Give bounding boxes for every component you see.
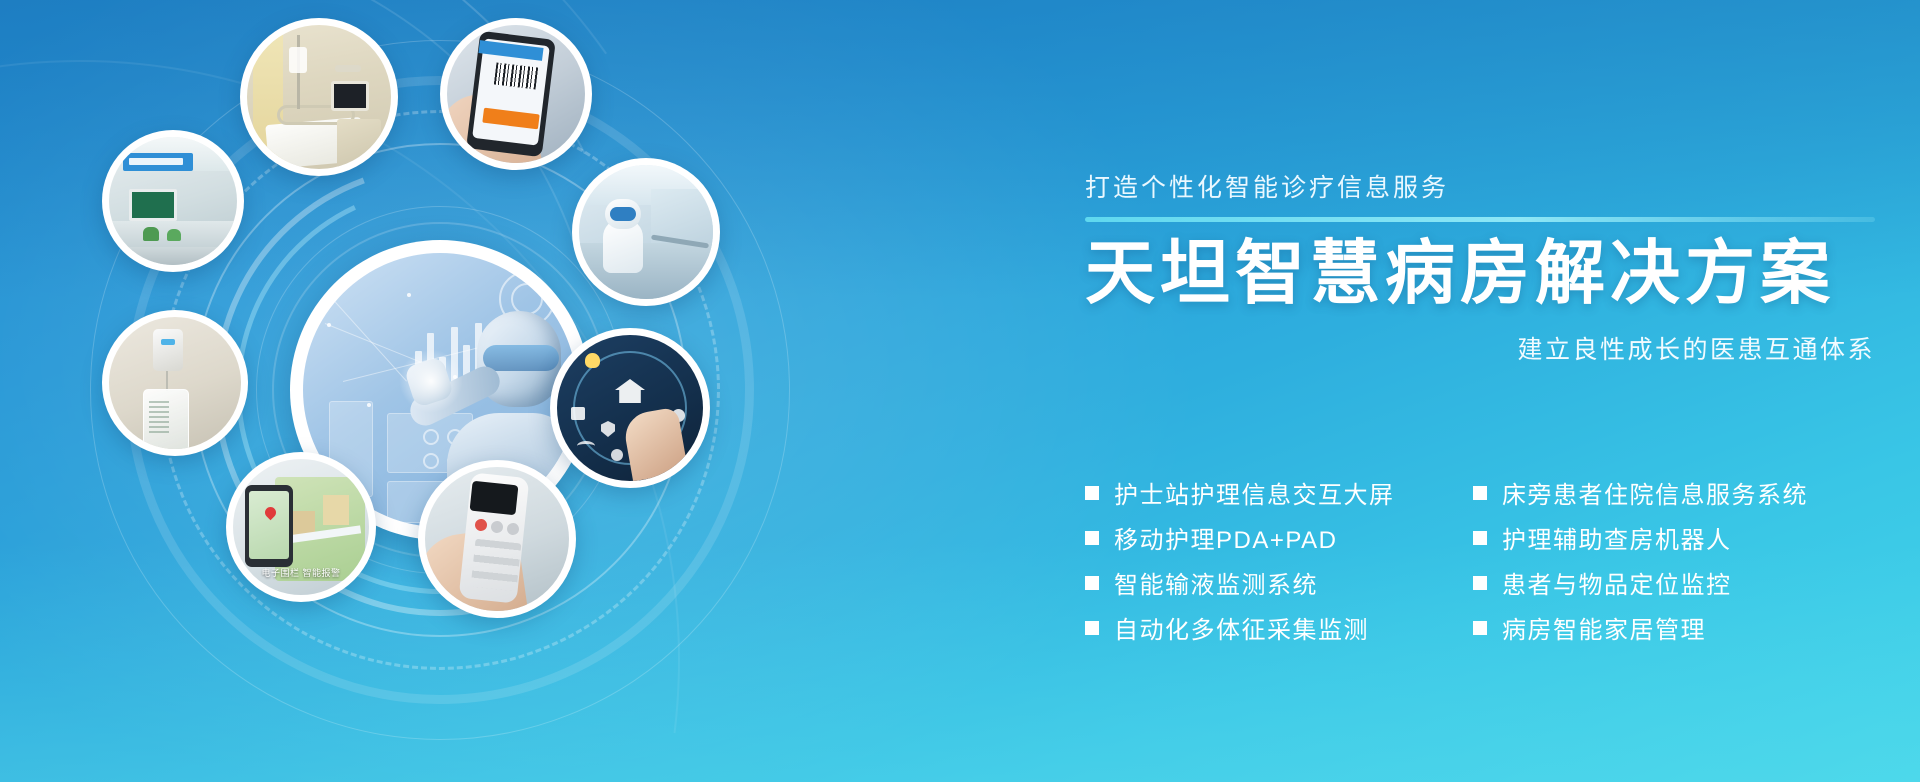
banner-root: 电子围栏 智能报警 打造个性化智能诊疗信息服务 天坦智慧病房解决方案 建立良性成… xyxy=(0,0,1920,782)
feature-label: 患者与物品定位监控 xyxy=(1502,565,1732,600)
page-title: 天坦智慧病房解决方案 xyxy=(1085,236,1875,312)
iv-bag-label xyxy=(149,401,169,435)
phone-screen xyxy=(249,491,289,559)
feature-label: 自动化多体征采集监测 xyxy=(1114,610,1369,645)
feature-item: 智能输液监测系统 xyxy=(1085,560,1473,605)
feature-label: 智能输液监测系统 xyxy=(1114,565,1318,600)
feature-list: 护士站护理信息交互大屏 床旁患者住院信息服务系统 移动护理PDA+PAD 护理辅… xyxy=(1085,470,1885,650)
bullet-square-icon xyxy=(1473,486,1487,500)
tagline-text: 建立良性成长的医患互通体系 xyxy=(1085,330,1875,366)
robot-visor xyxy=(483,345,559,371)
feature-item: 自动化多体征采集监测 xyxy=(1085,605,1473,650)
handheld-remote-photo xyxy=(418,460,576,618)
nurse-station-photo xyxy=(102,130,244,272)
data-link-line xyxy=(333,299,407,381)
infusion-bag-photo xyxy=(102,310,248,456)
remote-keypad xyxy=(471,539,522,592)
bullet-square-icon xyxy=(1473,621,1487,635)
infusion-monitor-device xyxy=(153,329,183,371)
bedside-monitor xyxy=(331,81,369,111)
bullet-square-icon xyxy=(1085,621,1099,635)
device-indicator xyxy=(161,339,175,345)
feature-item: 病房智能家居管理 xyxy=(1473,605,1885,650)
lightbulb-icon xyxy=(585,353,600,368)
feature-label: 床旁患者住院信息服务系统 xyxy=(1502,475,1808,510)
accent-rule xyxy=(1085,217,1875,222)
headline-block: 打造个性化智能诊疗信息服务 天坦智慧病房解决方案 建立良性成长的医患互通体系 xyxy=(1085,168,1875,366)
lock-icon xyxy=(571,407,585,420)
bullet-square-icon xyxy=(1085,486,1099,500)
monitor-arm xyxy=(335,65,361,72)
bullet-square-icon xyxy=(1473,576,1487,590)
feature-label: 护士站护理信息交互大屏 xyxy=(1114,475,1395,510)
wall-display xyxy=(129,189,177,221)
map-building xyxy=(323,495,349,525)
bedside-cabinet xyxy=(337,119,381,167)
corridor-floor xyxy=(579,243,713,299)
light-flare xyxy=(399,349,463,413)
iv-tube xyxy=(166,371,168,391)
gauge-dial xyxy=(423,429,439,445)
feature-label: 病房智能家居管理 xyxy=(1502,610,1706,645)
iv-bag xyxy=(289,47,307,73)
bullet-square-icon xyxy=(1085,576,1099,590)
feature-item: 床旁患者住院信息服务系统 xyxy=(1473,470,1885,515)
station-sign-text xyxy=(129,158,183,165)
wifi-icon xyxy=(577,441,595,451)
plant xyxy=(167,229,181,241)
hospital-corridor-robot-photo xyxy=(572,158,720,306)
feature-graphic-cluster: 电子围栏 智能报警 xyxy=(40,0,840,782)
smart-home-control-photo xyxy=(550,328,710,488)
remote-screen xyxy=(470,481,519,516)
plant xyxy=(143,227,159,241)
service-robot-face xyxy=(610,207,636,221)
music-icon xyxy=(611,449,623,461)
data-node xyxy=(327,323,331,327)
data-node xyxy=(407,293,411,297)
eyebrow-text: 打造个性化智能诊疗信息服务 xyxy=(1085,168,1875,204)
feature-label: 移动护理PDA+PAD xyxy=(1114,520,1337,555)
bullet-square-icon xyxy=(1085,531,1099,545)
photo-caption: 电子围栏 智能报警 xyxy=(233,566,369,579)
location-tracking-map-photo: 电子围栏 智能报警 xyxy=(226,452,376,602)
feature-item: 护士站护理信息交互大屏 xyxy=(1085,470,1473,515)
mobile-barcode-scan-photo xyxy=(440,18,592,170)
floor xyxy=(109,247,237,265)
hospital-bed-photo xyxy=(240,18,398,176)
feature-item: 护理辅助查房机器人 xyxy=(1473,515,1885,560)
gauge-dial xyxy=(423,453,439,469)
feature-label: 护理辅助查房机器人 xyxy=(1502,520,1732,555)
bullet-square-icon xyxy=(1473,531,1487,545)
feature-item: 患者与物品定位监控 xyxy=(1473,560,1885,605)
feature-item: 移动护理PDA+PAD xyxy=(1085,515,1473,560)
